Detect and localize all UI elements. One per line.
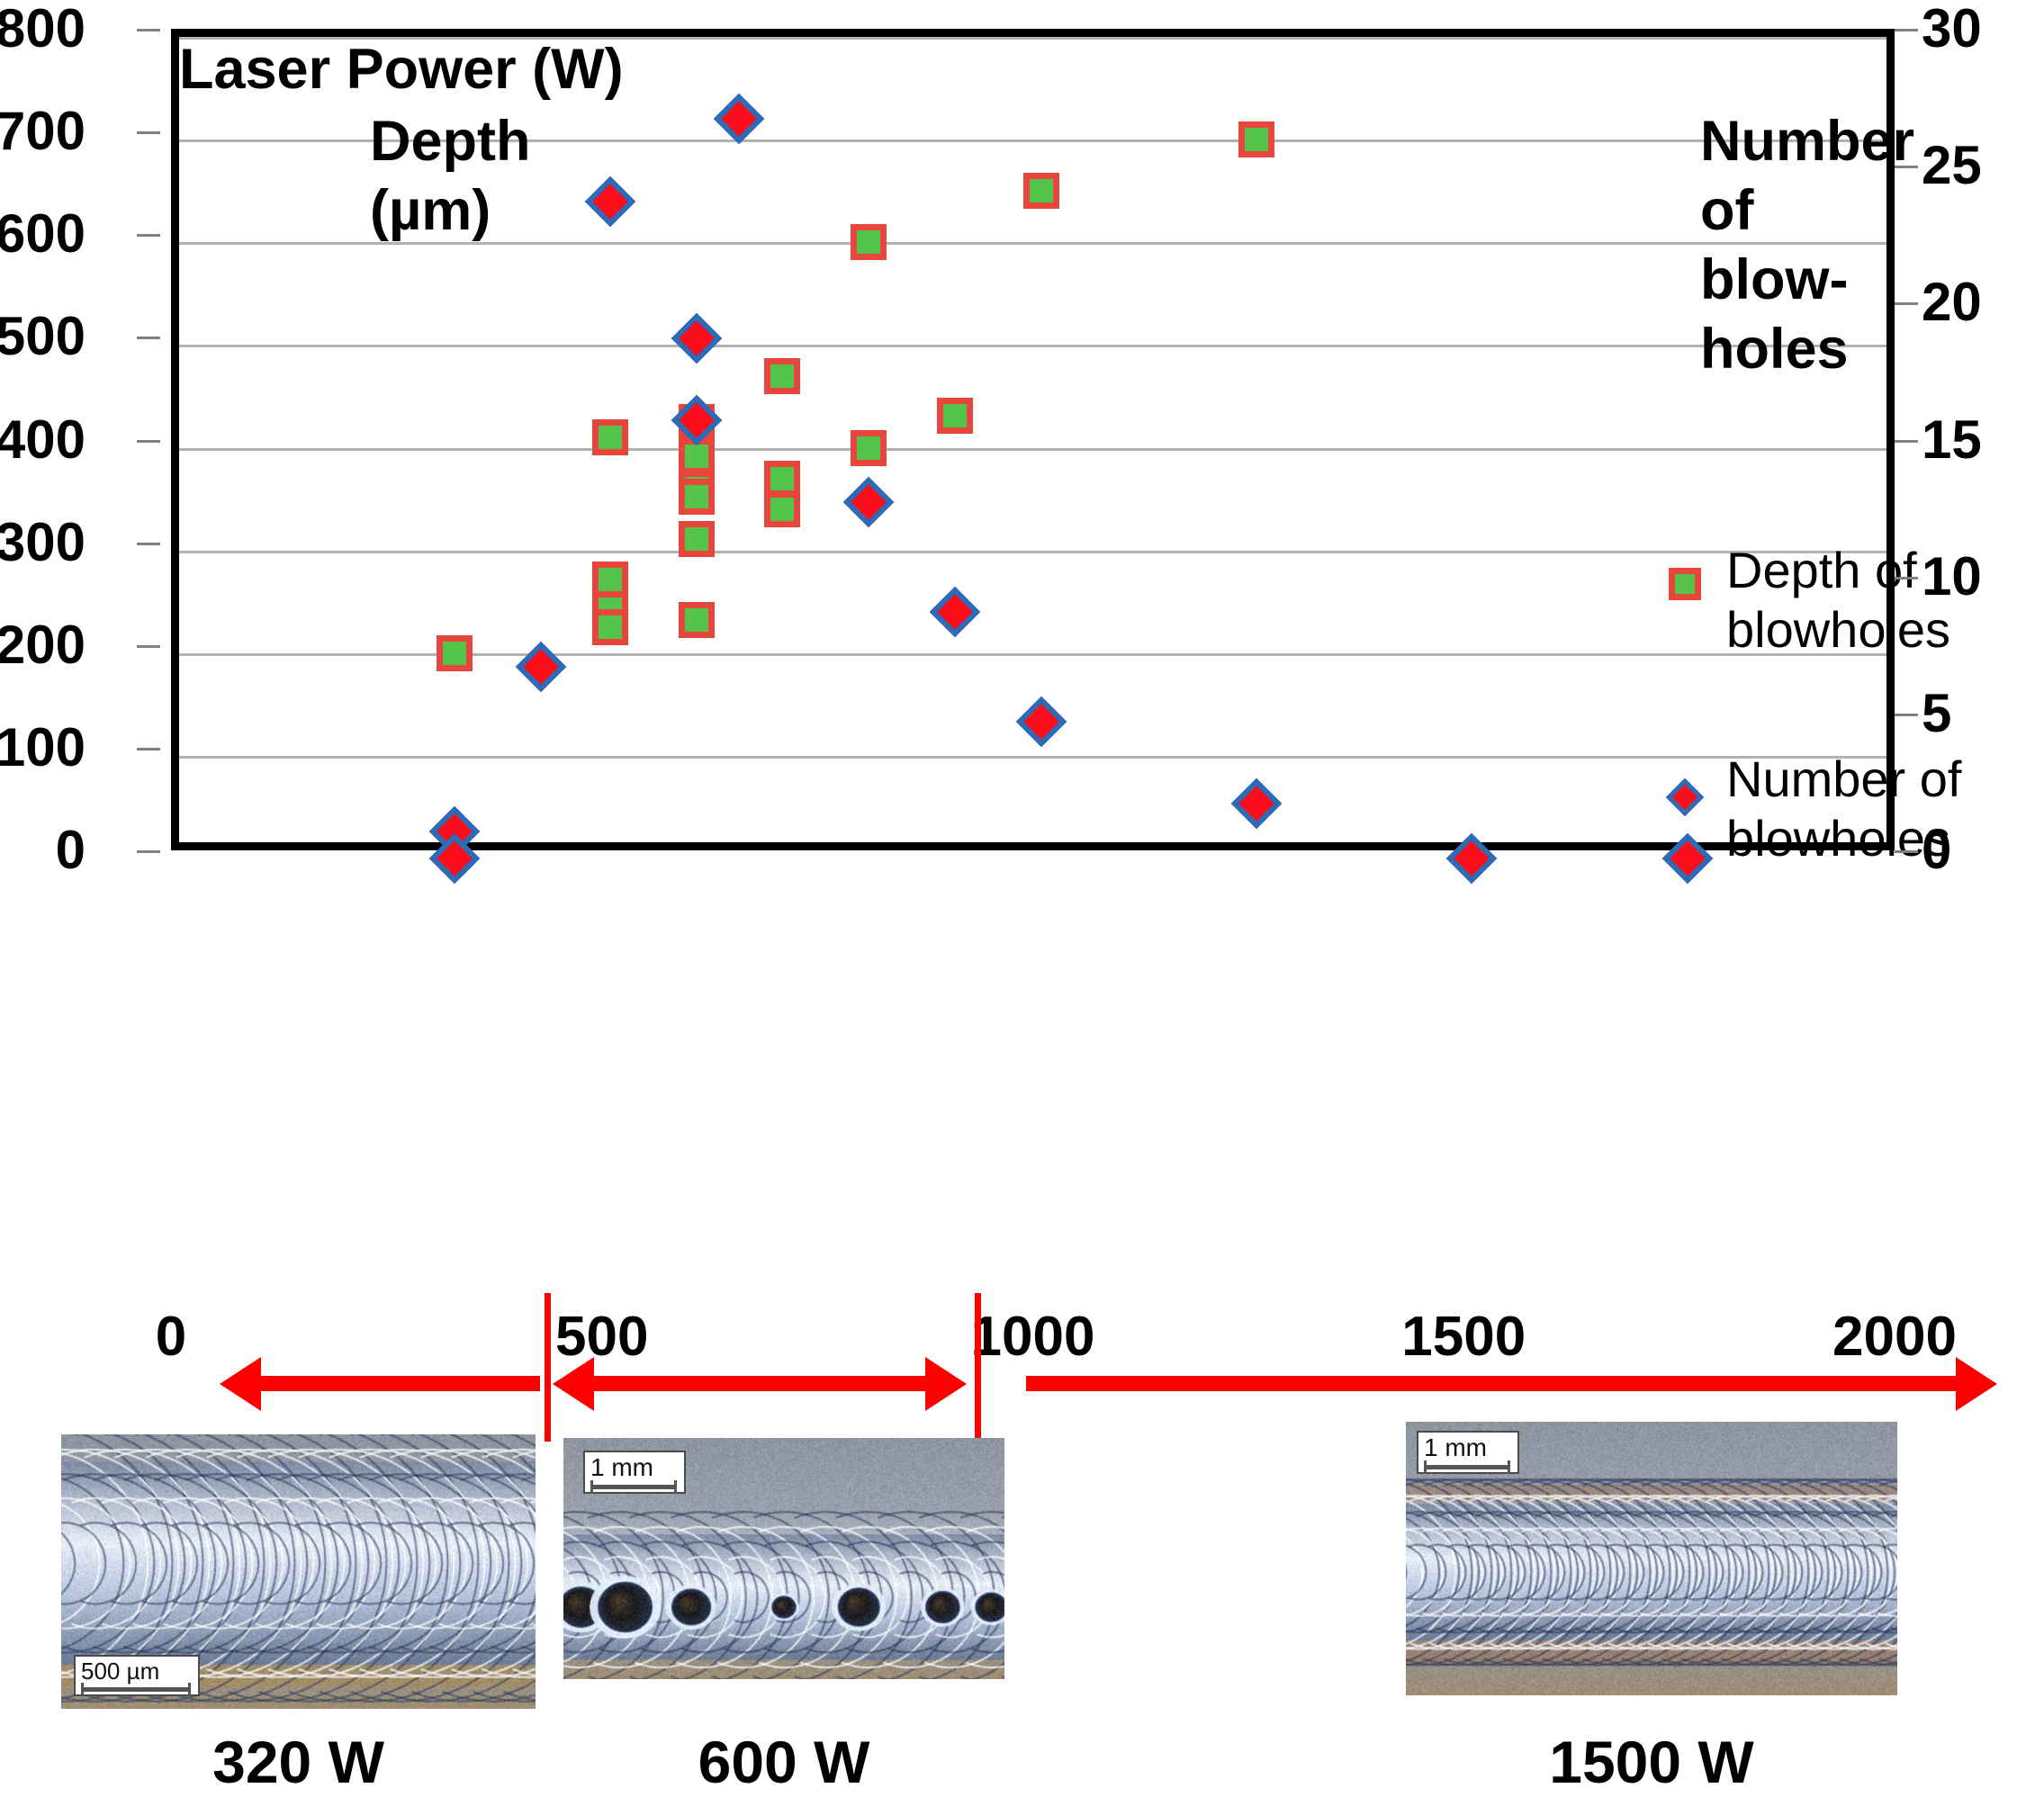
- right-axis-tick-mark: [1895, 166, 1918, 168]
- data-point-depth: [937, 398, 973, 434]
- plot-area: Depth (µm) Number of blow-holes Laser Po…: [171, 29, 1895, 850]
- arrow-mid-power-head-left-icon: [553, 1357, 594, 1411]
- region-divider-1000: [975, 1293, 981, 1442]
- data-point-depth: [679, 602, 715, 638]
- right-axis-tick-label: 5: [1922, 687, 2030, 741]
- micrograph-1500w: 1 mm: [1406, 1422, 1897, 1695]
- micrograph-600w-caption: 600 W: [563, 1728, 1004, 1796]
- right-axis-tick-label: 15: [1922, 413, 2030, 467]
- left-axis-tick-mark: [137, 748, 160, 750]
- scale-bar-320w: 500 µm: [74, 1655, 200, 1696]
- gridline: [179, 653, 1886, 656]
- data-point-depth: [679, 479, 715, 515]
- micrograph-320w-caption: 320 W: [61, 1728, 536, 1796]
- left-axis-title-line2: (µm): [370, 176, 530, 246]
- left-axis-tick-mark: [137, 543, 160, 545]
- x-axis-tick-label: 1500: [1401, 1309, 1526, 1365]
- right-axis-title-line1: Number of: [1700, 107, 1914, 246]
- scale-bar-600w: 1 mm: [583, 1451, 686, 1494]
- legend-label-depth: Depth of blowholes: [1726, 541, 1950, 660]
- right-axis-tick-label: 20: [1922, 275, 2030, 329]
- right-axis-tick-mark: [1895, 850, 1918, 853]
- scale-bar-1500w: 1 mm: [1417, 1431, 1519, 1474]
- right-axis-tick-mark: [1895, 29, 1918, 31]
- data-point-depth: [1023, 173, 1059, 209]
- x-axis-tick-label: 2000: [1832, 1309, 1957, 1365]
- gridline: [179, 345, 1886, 347]
- x-axis-tick-label: 1000: [971, 1309, 1095, 1365]
- left-axis-tick-mark: [137, 29, 160, 31]
- right-axis-tick-label: 10: [1922, 550, 2030, 604]
- right-axis-tick-mark: [1895, 714, 1918, 716]
- right-axis-tick-label: 30: [1922, 2, 2030, 56]
- right-axis-tick-label: 25: [1922, 139, 2030, 193]
- left-axis-tick-label: 800: [0, 2, 86, 56]
- arrow-mid-power-line: [594, 1376, 925, 1391]
- gridline: [179, 756, 1886, 759]
- gridline: [179, 551, 1886, 553]
- arrow-low-power-line: [261, 1376, 540, 1391]
- data-point-depth: [764, 491, 800, 527]
- left-axis-tick-label: 200: [0, 618, 86, 672]
- data-point-depth: [1238, 121, 1274, 157]
- data-point-depth: [679, 521, 715, 557]
- right-axis-tick-mark: [1895, 302, 1918, 305]
- micrograph-600w: 1 mm: [563, 1438, 1004, 1679]
- scale-bar-600w-label: 1 mm: [590, 1455, 677, 1480]
- micrograph-1500w-caption: 1500 W: [1406, 1728, 1897, 1796]
- scale-bar-320w-label: 500 µm: [81, 1659, 191, 1683]
- right-axis-title: Number of blow-holes: [1700, 107, 1914, 383]
- legend-diamond-marker-icon: [1666, 778, 1704, 816]
- left-axis-tick-label: 600: [0, 207, 86, 261]
- arrow-high-power-head-icon: [1956, 1357, 1997, 1411]
- data-point-depth: [851, 430, 887, 466]
- scale-bar-600w-rule: [590, 1485, 677, 1489]
- right-axis-tick-mark: [1895, 440, 1918, 443]
- scale-bar-320w-rule: [81, 1687, 191, 1692]
- left-axis-tick-label: 0: [0, 823, 86, 877]
- left-axis-tick-label: 100: [0, 721, 86, 775]
- data-point-depth: [851, 224, 887, 260]
- arrow-mid-power-head-right-icon: [925, 1357, 967, 1411]
- scale-bar-1500w-label: 1 mm: [1424, 1435, 1510, 1460]
- left-axis-tick-mark: [137, 234, 160, 237]
- arrow-high-power-line: [1026, 1376, 1956, 1391]
- data-point-depth: [592, 419, 628, 455]
- right-axis-tick-mark: [1895, 577, 1918, 580]
- left-axis-tick-label: 700: [0, 104, 86, 158]
- right-axis-title-line2: blow-holes: [1700, 246, 1914, 384]
- left-axis-tick-label: 300: [0, 516, 86, 570]
- x-axis-tick-label: 0: [156, 1309, 186, 1365]
- left-axis-tick-mark: [137, 645, 160, 648]
- micrograph-320w: 500 µm: [61, 1434, 536, 1709]
- gridline: [179, 37, 1886, 40]
- left-axis-tick-mark: [137, 440, 160, 443]
- scale-bar-1500w-rule: [1424, 1465, 1510, 1469]
- gridline: [179, 448, 1886, 451]
- arrow-low-power-head-icon: [220, 1357, 261, 1411]
- left-axis-tick-mark: [137, 131, 160, 134]
- data-point-depth: [437, 635, 473, 671]
- data-point-depth: [764, 358, 800, 394]
- data-point-depth: [592, 609, 628, 645]
- left-axis-tick-label: 400: [0, 413, 86, 467]
- legend-entry-depth: Depth of blowholes: [1669, 541, 1950, 660]
- left-axis-tick-mark: [137, 337, 160, 339]
- left-axis-title: Depth (µm): [370, 107, 530, 246]
- left-axis-tick-label: 500: [0, 310, 86, 364]
- right-axis-tick-label: 0: [1922, 823, 2030, 877]
- legend-square-marker-icon: [1669, 568, 1701, 600]
- left-axis-tick-mark: [137, 850, 160, 853]
- region-divider-500: [545, 1293, 551, 1442]
- left-axis-title-line1: Depth: [370, 107, 530, 176]
